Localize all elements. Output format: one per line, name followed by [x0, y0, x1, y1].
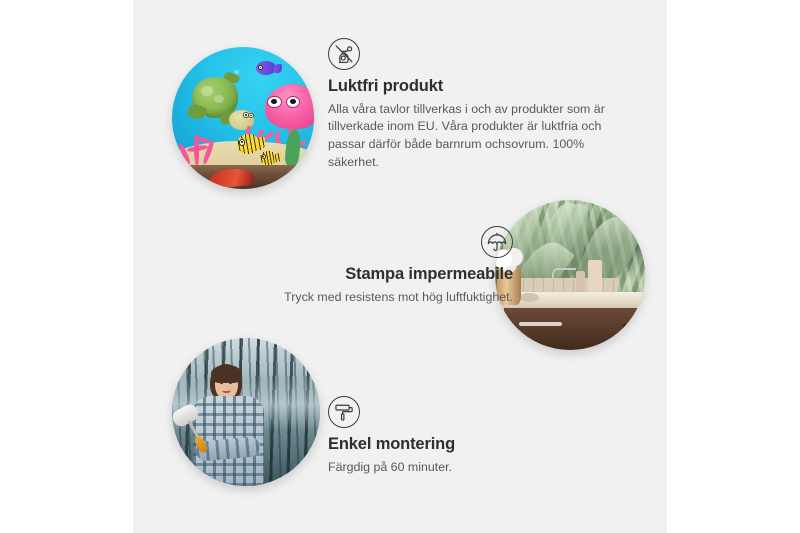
wooden-vanity-cabinet [504, 308, 645, 350]
fish-eye [262, 154, 266, 159]
bathroom-tropical-wallpaper-circle [495, 200, 645, 350]
umbrella-icon [481, 226, 513, 258]
no-fragrance-icon [328, 38, 360, 70]
yellow-striped-fish [260, 151, 276, 165]
fish-eye [258, 65, 263, 70]
fish-tail [274, 64, 282, 73]
cabinet-handle [623, 324, 629, 348]
paint-roller-icon [328, 396, 360, 428]
feature-waterproof: Stampa impermeabile Tryck med resistens … [223, 226, 513, 306]
feature-title: Enkel montering [328, 435, 608, 455]
feature-description: Tryck med resistens mot hög luftfuktighe… [223, 289, 513, 307]
feature-title: Luktfri produkt [328, 77, 628, 97]
hair-fringe [211, 365, 241, 382]
faucet [552, 268, 576, 282]
soap-dish [519, 293, 539, 302]
purple-fish [256, 61, 276, 75]
feature-description: Färgdig på 60 minuter. [328, 459, 608, 477]
installer-forest-wallpaper-circle [172, 338, 320, 486]
underwater-kids-mural-circle [172, 47, 314, 189]
roller-grip [194, 435, 209, 454]
fish-eye [239, 139, 245, 146]
octopus-eye [286, 96, 300, 109]
feature-description: Alla våra tavlor tillverkas i och av pro… [328, 101, 628, 171]
pink-coral [179, 124, 227, 167]
octopus-eye [267, 96, 281, 109]
yellow-striped-fish [237, 134, 258, 154]
feature-easy-mounting: Enkel montering Färgdig på 60 minuter. [328, 396, 608, 476]
feature-odourless: Luktfri produkt Alla våra tavlor tillver… [328, 38, 628, 171]
feature-panel: Luktfri produkt Alla våra tavlor tillver… [133, 0, 667, 533]
feature-title: Stampa impermeabile [223, 265, 513, 285]
octopus-body [265, 84, 314, 129]
fish-tail [274, 153, 280, 162]
smile [222, 388, 230, 393]
screenshot-canvas: Luktfri produkt Alla våra tavlor tillver… [0, 0, 800, 533]
woman-installer [184, 362, 273, 486]
